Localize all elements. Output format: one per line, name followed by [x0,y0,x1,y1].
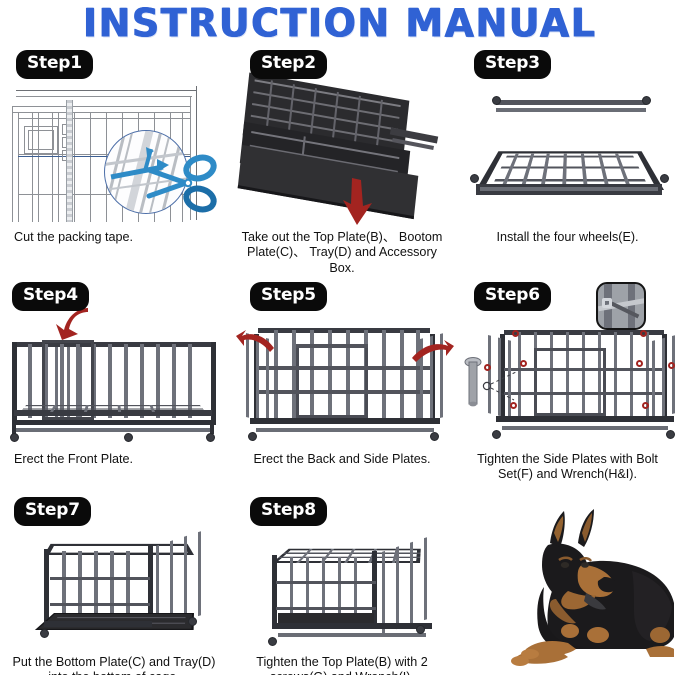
step-illustration-7 [4,527,224,655]
step-cell-6: Step6 [456,280,679,495]
wheel-e [492,96,501,105]
crate-back-side-plates-group [240,316,452,446]
bolt-marker [636,360,643,367]
wheel [492,430,501,439]
wheel [10,433,19,442]
bolt-marker [512,330,519,337]
badge-row: Step1 [4,50,224,80]
wheel [430,432,439,441]
step-badge-7: Step7 [14,497,91,526]
step-badge-3: Step3 [474,50,551,79]
step-cell-3: Step3 [456,48,679,280]
crate-with-tray-group [38,529,216,651]
step-cell-2: Step2 [228,48,456,280]
flat-packed-crate-lineart [12,82,217,222]
wheel [40,629,49,638]
instruction-manual-page: INSTRUCTION MANUAL Step1 [0,0,679,675]
step-badge-6: Step6 [474,282,551,311]
step-illustration-6 [460,312,675,452]
wheel [206,433,215,442]
title-bar: INSTRUCTION MANUAL [0,0,679,48]
step-caption-2: Take out the Top Plate(B)、 Bootom Plate(… [232,230,452,276]
base-frame-group [470,88,670,218]
wheel-e [642,96,651,105]
step-cell-1: Step1 [0,48,228,280]
step-illustration-1 [4,80,224,230]
step-illustration-5 [232,312,452,452]
badge-row: Step8 [232,497,452,527]
badge-row: Step7 [4,497,224,527]
red-right-arrow-icon [410,338,454,366]
steps-grid: Step1 [0,48,679,675]
badge-row: Step6 [460,282,675,312]
bolt-set-f-icon [464,356,484,412]
step-caption-8: Tighten the Top Plate(B) with 2 screws(G… [232,655,452,675]
step-caption-7: Put the Bottom Plate(C) and Tray(D) into… [4,655,224,675]
badge-row: Step5 [232,282,452,312]
badge-row: Step4 [4,282,224,312]
bolt-marker [520,360,527,367]
bolt-marker [640,330,647,337]
wheel-e [470,174,479,183]
bolt-marker [668,362,675,369]
wheel [124,433,133,442]
wheel [248,432,257,441]
step-cell-7: Step7 [0,495,228,675]
crate-bolt-locations-group [490,324,679,442]
step-illustration-8 [232,527,452,655]
step-badge-8: Step8 [250,497,327,526]
badge-row: Step2 [232,50,452,80]
wheel-e [660,174,669,183]
badge-row: Step3 [460,50,675,80]
bolt-marker [642,402,649,409]
step-cell-8: Step8 [228,495,456,675]
wheel [416,625,425,634]
step-illustration-3 [460,80,675,230]
wheel [666,430,675,439]
step-caption-3: Install the four wheels(E). [460,230,675,245]
step-badge-4: Step4 [12,282,89,311]
page-title: INSTRUCTION MANUAL [83,2,597,47]
step-illustration-2 [232,80,452,230]
step-caption-6: Tighten the Side Plates with Bolt Set(F)… [460,452,675,483]
door-frame [296,344,368,418]
step-badge-2: Step2 [250,50,327,79]
step-caption-1: Cut the packing tape. [4,230,224,245]
stacked-plates-group [240,80,450,230]
doberman-photo [464,499,676,671]
step-cell-5: Step5 [228,280,456,495]
wheel [268,637,277,646]
step-cell-4: Step4 [0,280,228,495]
crate-front-plate-group [6,334,226,446]
step-badge-5: Step5 [250,282,327,311]
bolt-leader-line-icon [482,368,518,404]
step-illustration-4 [4,312,224,452]
scissors-icon [145,144,221,220]
product-photo-cell [456,495,679,675]
step-caption-4: Erect the Front Plate. [4,452,224,467]
step-caption-5: Erect the Back and Side Plates. [232,452,452,467]
red-down-arrow-icon [340,178,374,226]
assembled-crate-group [264,527,444,651]
packing-tape [66,100,73,222]
red-left-arrow-icon [236,328,276,356]
step-badge-1: Step1 [16,50,93,79]
wheel [188,617,197,626]
